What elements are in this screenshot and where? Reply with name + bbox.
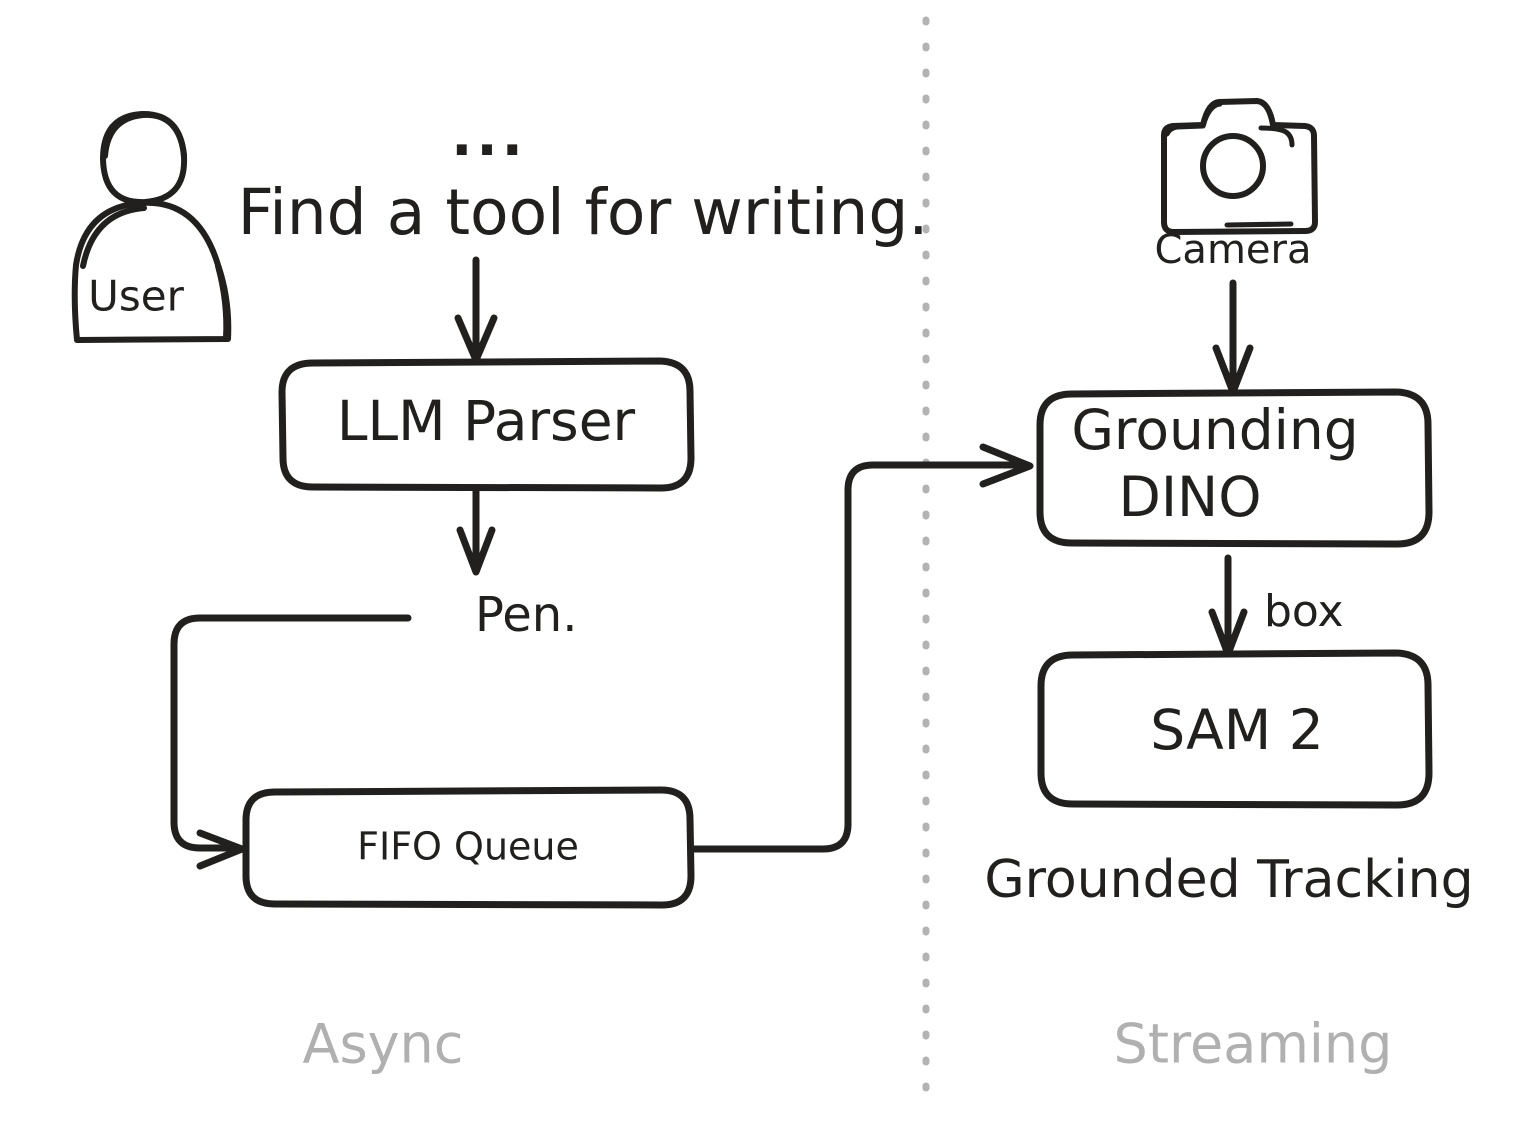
- zone-label-streaming: Streaming: [1114, 1013, 1393, 1076]
- diagram-text-layer: User ... Find a tool for writing. LLM Pa…: [0, 0, 1513, 1134]
- fifo-queue-label: FIFO Queue: [357, 825, 579, 869]
- user-label: User: [88, 272, 184, 321]
- box-edge-label: box: [1264, 586, 1344, 637]
- llm-parser-label: LLM Parser: [337, 389, 636, 453]
- sam2-label: SAM 2: [1150, 698, 1324, 762]
- grounded-tracking-caption: Grounded Tracking: [984, 850, 1473, 910]
- ellipsis-label: ...: [451, 104, 527, 169]
- user-prompt-text: Find a tool for writing.: [238, 176, 929, 249]
- diagram-canvas: User ... Find a tool for writing. LLM Pa…: [0, 0, 1513, 1134]
- zone-label-async: Async: [303, 1013, 464, 1076]
- camera-label: Camera: [1155, 227, 1312, 273]
- pen-edge-label: Pen.: [475, 587, 577, 643]
- grounding-dino-label-line2: DINO: [1118, 465, 1261, 529]
- grounding-dino-label-line1: Grounding: [1071, 398, 1358, 462]
